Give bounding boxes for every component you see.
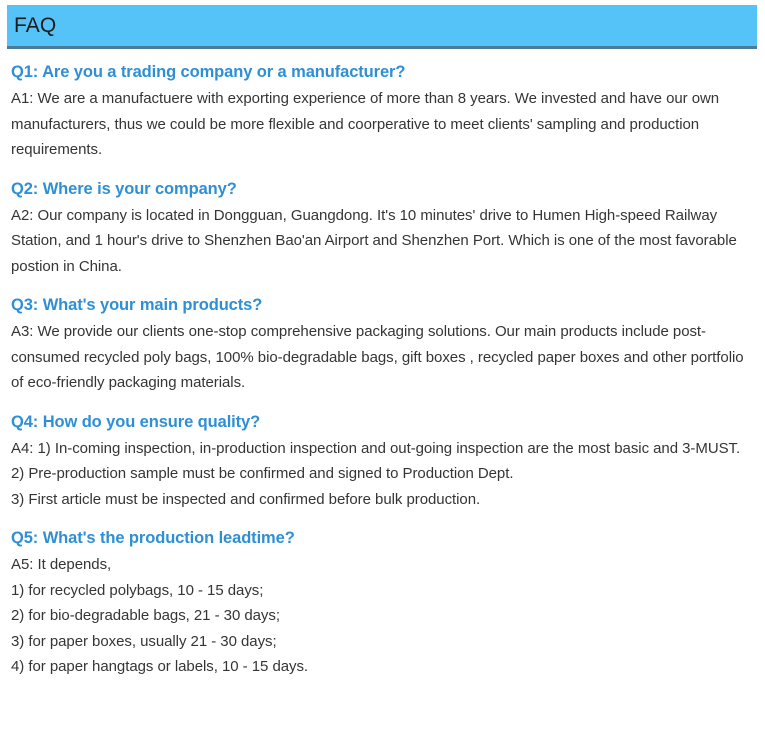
faq-answer: A2: Our company is located in Dongguan, … [11,203,753,280]
faq-answer-line: A1: We are a manufactuere with exporting… [11,86,753,163]
faq-answer-line: 4) for paper hangtags or labels, 10 - 15… [11,654,753,680]
faq-answer-line: 1) for recycled polybags, 10 - 15 days; [11,578,753,604]
faq-item: Q2: Where is your company?A2: Our compan… [11,177,753,280]
page-title: FAQ [7,15,56,36]
faq-page: FAQ Q1: Are you a trading company or a m… [0,0,765,748]
faq-answer-line: 2) for bio-degradable bags, 21 - 30 days… [11,603,753,629]
faq-list: Q1: Are you a trading company or a manuf… [11,60,753,680]
faq-answer: A5: It depends,1) for recycled polybags,… [11,552,753,680]
faq-answer-line: A5: It depends, [11,552,753,578]
faq-item: Q1: Are you a trading company or a manuf… [11,60,753,163]
faq-banner: FAQ [7,5,757,49]
faq-answer-line: 3) First article must be inspected and c… [11,487,753,513]
faq-item: Q5: What's the production leadtime?A5: I… [11,526,753,680]
faq-item: Q4: How do you ensure quality?A4: 1) In-… [11,410,753,513]
faq-answer: A1: We are a manufactuere with exporting… [11,86,753,163]
faq-item: Q3: What's your main products?A3: We pro… [11,293,753,396]
faq-answer-line: A4: 1) In-coming inspection, in-producti… [11,436,753,462]
faq-question: Q1: Are you a trading company or a manuf… [11,60,753,84]
faq-answer-line: A3: We provide our clients one-stop comp… [11,319,753,396]
faq-question: Q5: What's the production leadtime? [11,526,753,550]
faq-question: Q2: Where is your company? [11,177,753,201]
faq-question: Q3: What's your main products? [11,293,753,317]
faq-answer-line: 2) Pre-production sample must be confirm… [11,461,753,487]
faq-answer-line: A2: Our company is located in Dongguan, … [11,203,753,280]
faq-answer-line: 3) for paper boxes, usually 21 - 30 days… [11,629,753,655]
faq-answer: A3: We provide our clients one-stop comp… [11,319,753,396]
faq-question: Q4: How do you ensure quality? [11,410,753,434]
faq-answer: A4: 1) In-coming inspection, in-producti… [11,436,753,513]
